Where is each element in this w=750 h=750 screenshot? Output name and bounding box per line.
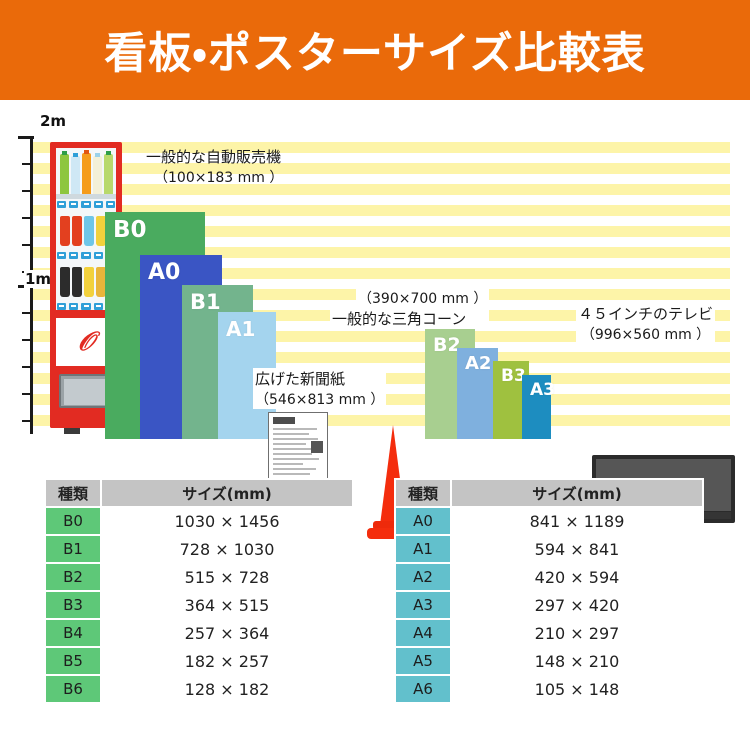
ruler-label-1m: 1m — [24, 270, 52, 288]
ruler-tick — [22, 312, 33, 314]
ruler-tick — [22, 366, 33, 368]
bottle-icon — [60, 154, 69, 198]
cell-size: 210 × 297 — [451, 619, 703, 647]
cell-type: B2 — [45, 563, 101, 591]
bar-label-B0: B0 — [113, 217, 147, 243]
cell-size: 594 × 841 — [451, 535, 703, 563]
cell-type: B4 — [45, 619, 101, 647]
bar-A3[interactable]: A3 — [522, 375, 551, 439]
bottle-icon — [104, 154, 113, 198]
b-series-table: 種類 サイズ(mm) B0 1030 × 1456 B1 728 × 1030 … — [44, 478, 354, 704]
qr-code-icon — [311, 441, 323, 453]
table-row: B0 1030 × 1456 — [45, 507, 353, 535]
page-title: 看板・ポスターサイズ比較表 — [104, 19, 645, 81]
bar-label-A2: A2 — [465, 353, 491, 374]
cell-size: 105 × 148 — [451, 675, 703, 703]
comparison-chart: 2m 1m — [0, 100, 750, 455]
infographic-root: 看板・ポスターサイズ比較表 2m 1m — [0, 0, 750, 750]
callout-television: ４５インチのテレビ （996×560 mm ） — [576, 303, 715, 344]
cell-size: 364 × 515 — [101, 591, 353, 619]
cell-type: B6 — [45, 675, 101, 703]
bottle-icon — [93, 156, 102, 198]
bar-label-A0: A0 — [148, 260, 180, 285]
callout-vending-machine-size: （100×183 mm ） — [154, 167, 283, 187]
can-icon — [84, 267, 94, 297]
logo-mark-icon: 𝒪 — [78, 329, 94, 355]
callout-newspaper: 広げた新聞紙 （546×813 mm ） — [253, 368, 386, 409]
bar-A2[interactable]: A2 — [457, 348, 498, 439]
can-icon — [60, 216, 70, 246]
cell-size: 182 × 257 — [101, 647, 353, 675]
table-row: B2 515 × 728 — [45, 563, 353, 591]
cell-size: 297 × 420 — [451, 591, 703, 619]
purchase-button[interactable] — [94, 303, 103, 310]
cell-type: B3 — [45, 591, 101, 619]
table-row: A5 148 × 210 — [395, 647, 703, 675]
purchase-button[interactable] — [81, 201, 90, 208]
purchase-button[interactable] — [106, 201, 115, 208]
cell-type: A4 — [395, 619, 451, 647]
column-header-size: サイズ(mm) — [101, 479, 353, 507]
ruler-label-2m: 2m — [40, 112, 66, 130]
purchase-button[interactable] — [69, 201, 78, 208]
ruler-tick — [22, 244, 33, 246]
purchase-button[interactable] — [81, 303, 90, 310]
cell-type: A1 — [395, 535, 451, 563]
purchase-button[interactable] — [69, 252, 78, 259]
cell-type: A3 — [395, 591, 451, 619]
purchase-button[interactable] — [94, 252, 103, 259]
table-row: A2 420 × 594 — [395, 563, 703, 591]
callout-vending-machine: 一般的な自動販売機 （100×183 mm ） — [146, 146, 283, 187]
cell-size: 1030 × 1456 — [101, 507, 353, 535]
purchase-button[interactable] — [69, 303, 78, 310]
cell-type: B1 — [45, 535, 101, 563]
table-row: B5 182 × 257 — [45, 647, 353, 675]
pickup-slot-inner — [64, 379, 110, 405]
vending-machine-foot — [64, 428, 80, 434]
cell-type: B5 — [45, 647, 101, 675]
column-header-size: サイズ(mm) — [451, 479, 703, 507]
table-row: B4 257 × 364 — [45, 619, 353, 647]
bottle-icon — [71, 156, 80, 198]
callout-television-size: （996×560 mm ） — [576, 324, 715, 344]
a-series-table: 種類 サイズ(mm) A0 841 × 1189 A1 594 × 841 A2… — [394, 478, 704, 704]
cell-size: 257 × 364 — [101, 619, 353, 647]
ruler-tick — [22, 393, 33, 395]
table-header-row: 種類 サイズ(mm) — [395, 479, 703, 507]
bar-label-B1: B1 — [190, 290, 221, 314]
cell-type: B0 — [45, 507, 101, 535]
vending-machine-shelf — [56, 194, 116, 199]
purchase-button[interactable] — [94, 201, 103, 208]
callout-traffic-cone-name: 一般的な三角コーン — [330, 308, 489, 329]
purchase-button[interactable] — [57, 303, 66, 310]
callout-vending-machine-name: 一般的な自動販売機 — [146, 146, 283, 167]
ruler-tick — [22, 339, 33, 341]
callout-television-name: ４５インチのテレビ — [576, 303, 715, 324]
bottle-icon — [82, 153, 91, 198]
table-row: A3 297 × 420 — [395, 591, 703, 619]
column-header-type: 種類 — [45, 479, 101, 507]
can-icon — [72, 267, 82, 297]
ruler-tick — [22, 163, 33, 165]
table-header-row: 種類 サイズ(mm) — [45, 479, 353, 507]
callout-traffic-cone: （390×700 mm ） 一般的な三角コーン — [330, 288, 489, 329]
ruler-tick — [22, 217, 33, 219]
size-tables: 種類 サイズ(mm) B0 1030 × 1456 B1 728 × 1030 … — [0, 470, 750, 750]
column-header-type: 種類 — [395, 479, 451, 507]
table-row: A4 210 × 297 — [395, 619, 703, 647]
cell-size: 420 × 594 — [451, 563, 703, 591]
callout-traffic-cone-size: （390×700 mm ） — [356, 288, 489, 308]
cell-size: 515 × 728 — [101, 563, 353, 591]
cell-type: A6 — [395, 675, 451, 703]
cell-type: A5 — [395, 647, 451, 675]
table-row: B1 728 × 1030 — [45, 535, 353, 563]
cell-size: 148 × 210 — [451, 647, 703, 675]
page-header: 看板・ポスターサイズ比較表 — [0, 0, 750, 100]
cell-size: 728 × 1030 — [101, 535, 353, 563]
purchase-button[interactable] — [81, 252, 90, 259]
can-icon — [84, 216, 94, 246]
callout-newspaper-name: 広げた新聞紙 — [253, 368, 386, 389]
ruler-tick — [22, 420, 33, 422]
can-icon — [60, 267, 70, 297]
table-row: A1 594 × 841 — [395, 535, 703, 563]
can-icon — [72, 216, 82, 246]
cell-size: 128 × 182 — [101, 675, 353, 703]
newspaper-masthead — [273, 417, 295, 424]
ruler-tick-2m — [18, 136, 34, 139]
bar-label-A1: A1 — [226, 317, 255, 341]
cell-type: A0 — [395, 507, 451, 535]
callout-newspaper-size: （546×813 mm ） — [253, 389, 386, 409]
table-row: A6 105 × 148 — [395, 675, 703, 703]
purchase-button[interactable] — [57, 252, 66, 259]
table-row: A0 841 × 1189 — [395, 507, 703, 535]
bar-label-A3: A3 — [530, 380, 555, 400]
ruler-tick — [22, 190, 33, 192]
table-row: B6 128 × 182 — [45, 675, 353, 703]
purchase-button[interactable] — [57, 201, 66, 208]
vending-machine-button-row[interactable] — [57, 201, 115, 208]
cell-size: 841 × 1189 — [451, 507, 703, 535]
cell-type: A2 — [395, 563, 451, 591]
table-row: B3 364 × 515 — [45, 591, 353, 619]
